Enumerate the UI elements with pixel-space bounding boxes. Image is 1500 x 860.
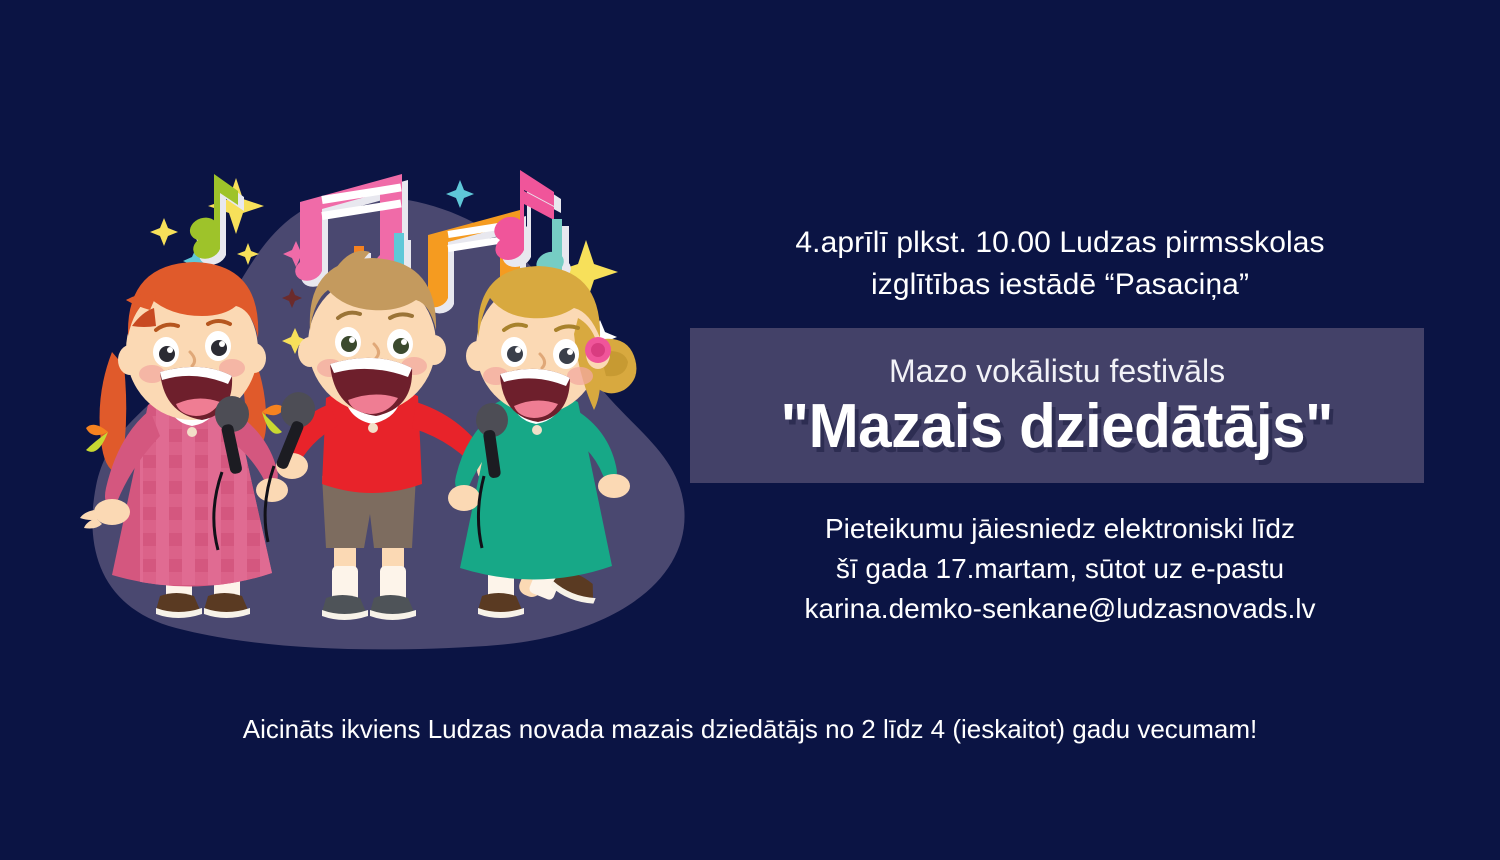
contact-line-2: šī gada 17.martam, sūtot uz e-pastu bbox=[690, 549, 1430, 589]
poster-canvas: 4.aprīlī plkst. 10.00 Ludzas pirmsskolas… bbox=[0, 0, 1500, 860]
festival-title: "Mazais dziedātājs" bbox=[781, 393, 1334, 461]
contact-email[interactable]: karina.demko-senkane@ludzasnovads.lv bbox=[690, 589, 1430, 629]
illustration-children-singing bbox=[0, 0, 720, 700]
contact-block: Pieteikumu jāiesniedz elektroniski līdz … bbox=[690, 509, 1430, 629]
festival-title-banner: Mazo vokālistu festivāls "Mazais dziedāt… bbox=[690, 328, 1424, 483]
footer-note: Aicināts ikviens Ludzas novada mazais dz… bbox=[0, 712, 1500, 746]
text-column: 4.aprīlī plkst. 10.00 Ludzas pirmsskolas… bbox=[690, 222, 1430, 629]
header-line-1: 4.aprīlī plkst. 10.00 Ludzas pirmsskolas bbox=[690, 222, 1430, 264]
festival-subtitle: Mazo vokālistu festivāls bbox=[889, 351, 1225, 391]
header-line-2: izglītības iestādē “Pasaciņa” bbox=[690, 264, 1430, 306]
contact-line-1: Pieteikumu jāiesniedz elektroniski līdz bbox=[690, 509, 1430, 549]
